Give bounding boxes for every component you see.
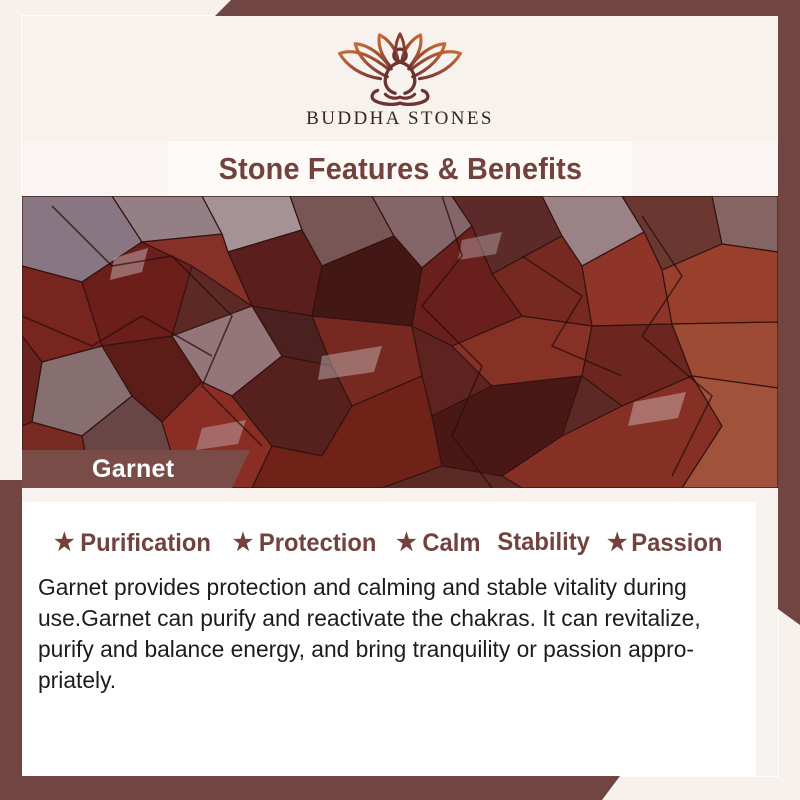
benefit-item-passion: ★ Passion <box>607 529 722 558</box>
benefit-label: Stability <box>497 528 589 557</box>
star-icon: ★ <box>233 531 253 555</box>
section-title-banner: Stone Features & Benefits <box>168 141 632 196</box>
star-icon: ★ <box>54 531 74 555</box>
benefit-label: Protection <box>259 529 376 558</box>
frame-band-right <box>778 0 800 625</box>
brand-name: BUDDHA STONES <box>306 108 494 130</box>
benefit-item-stability: Stability <box>497 528 589 557</box>
benefit-label: Calm <box>423 529 481 558</box>
lotus-meditation-icon <box>325 30 475 106</box>
product-info-card: BUDDHA STONES Stone Features & Benefits <box>0 0 800 800</box>
frame-band-bottom-left <box>0 776 620 800</box>
frame-band-top-right <box>215 0 800 16</box>
benefit-item-protection: ★ Protection <box>233 529 377 558</box>
star-icon: ★ <box>607 531 627 555</box>
benefit-label: Passion <box>631 529 722 558</box>
benefits-list: ★ Purification ★ Protection ★ Calm Stabi… <box>50 528 770 558</box>
stone-name: Garnet <box>92 455 174 484</box>
benefit-label: Purification <box>80 529 211 558</box>
stone-name-tag: Garnet <box>22 450 250 488</box>
benefit-item-calm: ★ Calm <box>396 529 480 558</box>
star-icon: ★ <box>396 531 416 555</box>
page-title: Stone Features & Benefits <box>218 151 582 187</box>
stone-photo <box>22 196 778 488</box>
frame-band-left <box>0 480 22 800</box>
garnet-crystal-illustration <box>22 196 778 488</box>
brand-header: BUDDHA STONES <box>22 16 778 142</box>
stone-description: Garnet provides protection and calming a… <box>38 572 734 696</box>
benefit-item-purification: ★ Purification <box>54 529 211 558</box>
